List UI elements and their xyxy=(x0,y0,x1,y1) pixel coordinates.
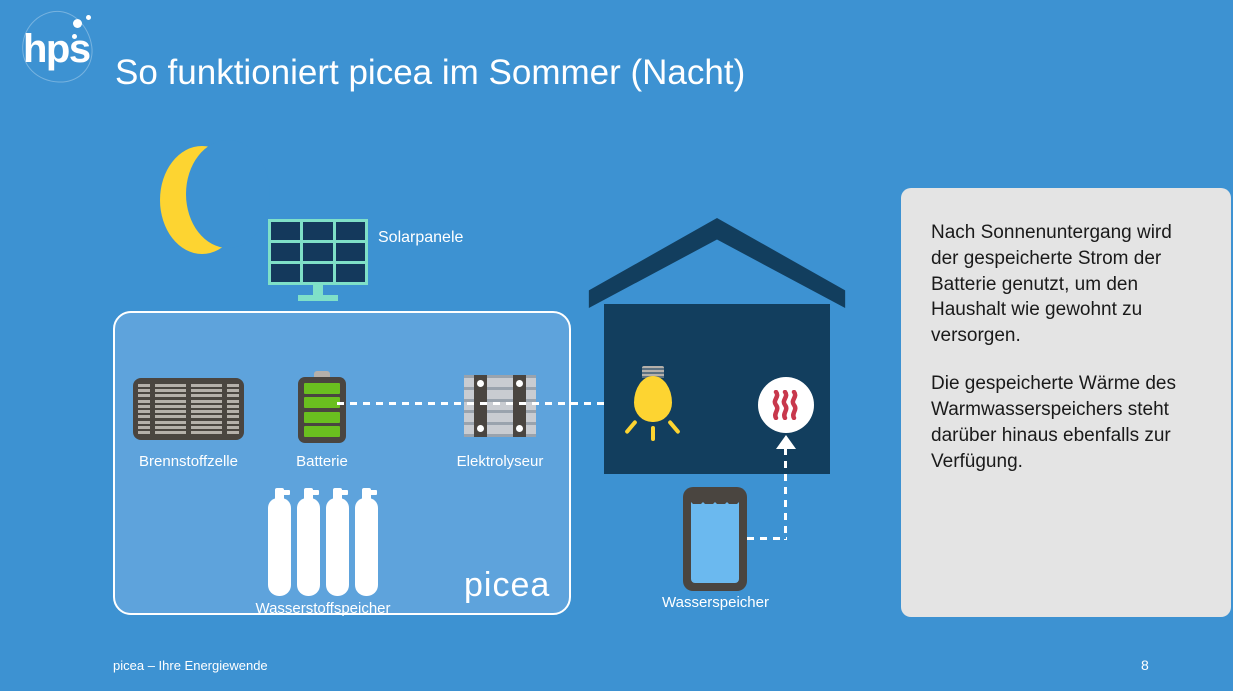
solar-panel-foot xyxy=(298,295,338,301)
battery-icon xyxy=(298,371,346,443)
electrolyser-label: Elektrolyseur xyxy=(445,453,555,470)
logo-dot-icon xyxy=(73,19,82,28)
water-surface-wave xyxy=(691,499,739,509)
battery-bar xyxy=(304,426,340,437)
fuel-cell-icon xyxy=(133,378,244,440)
solar-cell xyxy=(303,243,332,261)
flow-line-heat-horizontal xyxy=(747,537,787,540)
lightbulb-glass xyxy=(634,376,672,422)
solar-cell xyxy=(303,264,332,282)
electrolyser-icon xyxy=(464,375,536,437)
electrolyser-bolt-icon xyxy=(477,380,484,387)
house-roof xyxy=(586,218,848,308)
logo-wordmark: hps xyxy=(23,29,90,69)
info-paragraph-1: Nach Sonnenuntergang wird der gespeicher… xyxy=(931,220,1201,349)
solar-panel-frame xyxy=(268,219,368,285)
solar-cell xyxy=(271,243,300,261)
logo-dot-icon xyxy=(72,34,77,39)
solar-panel-icon xyxy=(268,219,368,301)
fuel-cell-stack xyxy=(227,384,239,434)
solar-cell xyxy=(336,264,365,282)
hydrogen-storage-icon xyxy=(268,484,378,596)
info-paragraph-2: Die gespeicherte Wärme des Warmwasserspe… xyxy=(931,371,1201,474)
hydrogen-cylinder xyxy=(268,484,291,596)
flow-arrow-heat xyxy=(776,435,796,449)
lightbulb-icon xyxy=(628,366,678,444)
footer-label: picea – Ihre Energiewende xyxy=(113,658,268,673)
solar-cell xyxy=(271,222,300,240)
solar-cell xyxy=(303,222,332,240)
equipment-panel: Brennstoffzelle Batterie E xyxy=(113,311,571,615)
battery-bar xyxy=(304,412,340,423)
info-panel: Nach Sonnenuntergang wird der gespeicher… xyxy=(901,188,1231,617)
electrolyser-bolt-icon xyxy=(477,425,484,432)
hydrogen-cylinder xyxy=(297,484,320,596)
electrolyser-bolt-icon xyxy=(516,425,523,432)
slide-canvas: hps So funktioniert picea im Sommer (Nac… xyxy=(0,0,1233,691)
hydrogen-storage-label: Wasserstoffspeicher xyxy=(243,600,403,617)
flow-line-heat-vertical xyxy=(784,448,787,540)
water-fill xyxy=(691,504,739,583)
crescent-moon-icon xyxy=(160,146,244,254)
solar-cell xyxy=(271,264,300,282)
battery-label: Batterie xyxy=(272,453,372,470)
page-number: 8 xyxy=(1141,657,1149,673)
battery-bar xyxy=(304,397,340,408)
hydrogen-cylinder xyxy=(326,484,349,596)
hydrogen-cylinder xyxy=(355,484,378,596)
house-icon xyxy=(586,218,848,474)
solar-cell xyxy=(336,222,365,240)
fuel-cell-stack xyxy=(155,384,186,434)
fuel-cell-stack xyxy=(191,384,222,434)
electrolyser-post xyxy=(513,375,526,437)
moon-cutout xyxy=(186,140,270,248)
picea-brand-logo: picea xyxy=(464,566,550,605)
logo-dot-icon xyxy=(86,15,91,20)
hps-logo: hps xyxy=(16,7,106,87)
fuel-cell-label: Brennstoffzelle xyxy=(133,453,244,470)
electrolyser-bolt-icon xyxy=(516,380,523,387)
heat-waves-icon xyxy=(758,377,814,433)
lightbulb-ray xyxy=(651,426,655,441)
flow-line-electricity xyxy=(337,402,615,405)
battery-bar xyxy=(304,383,340,394)
water-storage-icon xyxy=(683,487,747,591)
battery-body xyxy=(298,377,346,443)
water-storage-label: Wasserspeicher xyxy=(662,594,769,611)
solar-cell xyxy=(336,243,365,261)
solar-panel-label: Solarpanele xyxy=(378,229,463,247)
heat-waves-glyph xyxy=(771,390,801,420)
fuel-cell-stack xyxy=(138,384,150,434)
electrolyser-post xyxy=(474,375,487,437)
page-title: So funktioniert picea im Sommer (Nacht) xyxy=(115,53,745,93)
